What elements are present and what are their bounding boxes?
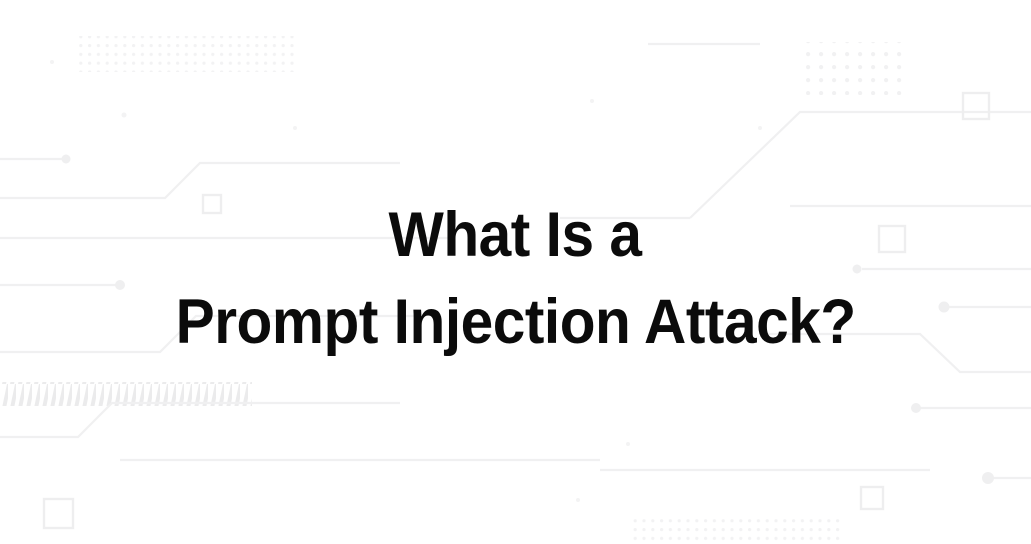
title-slide: What Is a Prompt Injection Attack? — [0, 0, 1031, 544]
title-line-2: Prompt Injection Attack? — [175, 279, 855, 366]
title-line-1: What Is a — [389, 192, 642, 279]
page-title: What Is a Prompt Injection Attack? — [0, 0, 1031, 544]
